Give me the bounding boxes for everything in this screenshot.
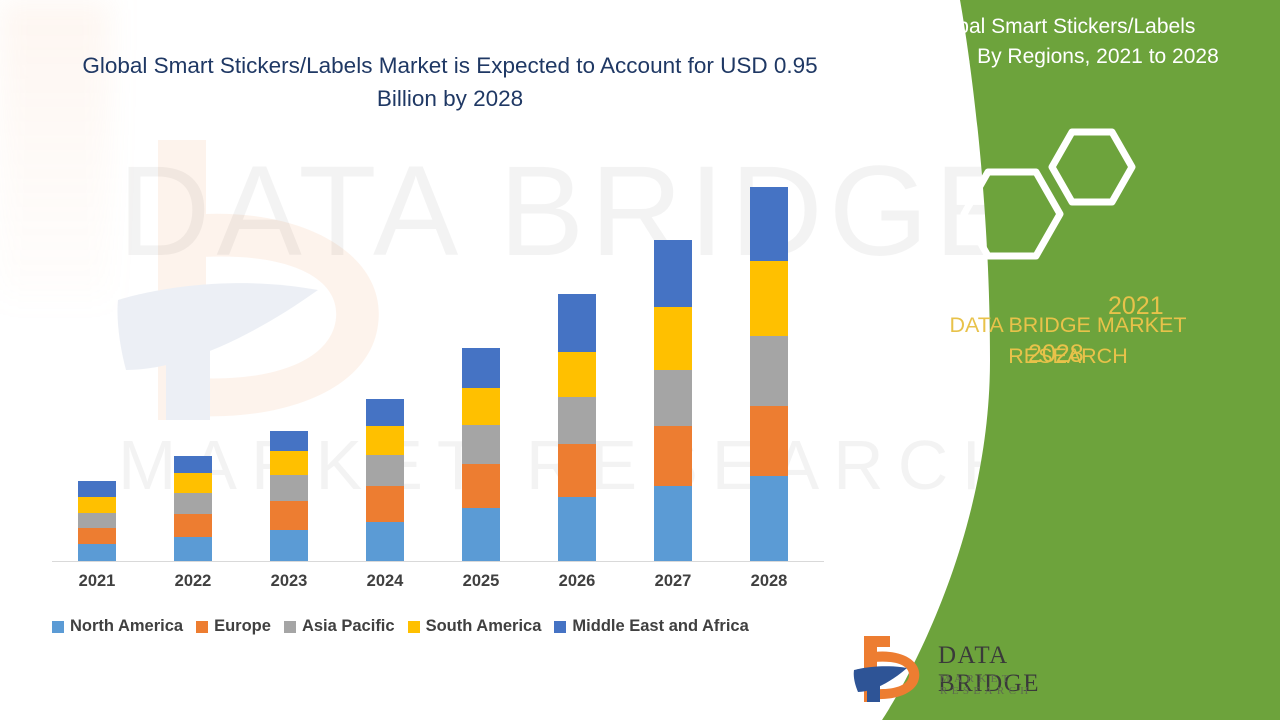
bar-segment-2024-asia-pacific[interactable] — [366, 455, 404, 486]
bar-segment-2021-south-america[interactable] — [78, 497, 116, 513]
bar-segment-2028-europe[interactable] — [750, 406, 788, 476]
right-panel-title: Global Smart Stickers/Labels Market, By … — [890, 12, 1230, 72]
legend-swatch-middle-east-and-africa — [554, 621, 566, 633]
bar-segment-2025-europe[interactable] — [462, 464, 500, 508]
legend-label-europe: Europe — [214, 617, 271, 636]
hexagon-2028-outline — [964, 172, 1060, 256]
x-axis-label-2026: 2026 — [537, 572, 617, 591]
bar-segment-2028-south-america[interactable] — [750, 261, 788, 336]
bar-segment-2028-north-america[interactable] — [750, 476, 788, 561]
bar-segment-2021-north-america[interactable] — [78, 544, 116, 561]
hexagon-outlines — [840, 120, 1280, 300]
bar-segment-2027-middle-east-and-africa[interactable] — [654, 240, 692, 307]
x-axis-label-2027: 2027 — [633, 572, 713, 591]
bar-segment-2026-north-america[interactable] — [558, 497, 596, 561]
legend-label-south-america: South America — [426, 617, 542, 636]
logo-tagline-text: MARKET RESEARCH — [940, 673, 1080, 697]
bar-segment-2026-south-america[interactable] — [558, 352, 596, 397]
bar-column-2021[interactable] — [78, 481, 116, 561]
chart-legend: North AmericaEuropeAsia PacificSouth Ame… — [52, 617, 762, 636]
bar-segment-2022-middle-east-and-africa[interactable] — [174, 456, 212, 473]
legend-label-middle-east-and-africa: Middle East and Africa — [572, 617, 748, 636]
legend-swatch-asia-pacific — [284, 621, 296, 633]
bar-segment-2027-north-america[interactable] — [654, 486, 692, 561]
hexagon-2021-outline — [1052, 132, 1132, 202]
bar-segment-2023-europe[interactable] — [270, 501, 308, 530]
legend-label-asia-pacific: Asia Pacific — [302, 617, 395, 636]
x-axis-label-2024: 2024 — [345, 572, 425, 591]
bar-segment-2027-south-america[interactable] — [654, 307, 692, 370]
bar-column-2028[interactable] — [750, 187, 788, 561]
company-name: DATA BRIDGE MARKET RESEARCH — [918, 310, 1218, 371]
x-axis-line — [52, 561, 824, 562]
legend-item-europe[interactable]: Europe — [196, 617, 271, 636]
bar-segment-2022-asia-pacific[interactable] — [174, 493, 212, 514]
bar-segment-2024-europe[interactable] — [366, 486, 404, 522]
legend-item-middle-east-and-africa[interactable]: Middle East and Africa — [554, 617, 748, 636]
hexagon-group: 2021 2028 — [840, 120, 1280, 300]
bar-segment-2021-middle-east-and-africa[interactable] — [78, 481, 116, 497]
bar-segment-2021-europe[interactable] — [78, 528, 116, 544]
x-axis-label-2028: 2028 — [729, 572, 809, 591]
bar-segment-2026-asia-pacific[interactable] — [558, 397, 596, 444]
legend-swatch-north-america — [52, 621, 64, 633]
legend-item-asia-pacific[interactable]: Asia Pacific — [284, 617, 395, 636]
bar-segment-2026-europe[interactable] — [558, 444, 596, 497]
bar-column-2026[interactable] — [558, 294, 596, 561]
bar-column-2027[interactable] — [654, 240, 692, 561]
bar-segment-2025-middle-east-and-africa[interactable] — [462, 348, 500, 388]
bar-column-2022[interactable] — [174, 456, 212, 561]
dbmr-logo: DATA BRIDGE MARKET RESEARCH — [850, 630, 1080, 712]
bar-segment-2025-south-america[interactable] — [462, 388, 500, 425]
bar-segment-2028-middle-east-and-africa[interactable] — [750, 187, 788, 261]
bar-segment-2024-south-america[interactable] — [366, 426, 404, 455]
legend-item-north-america[interactable]: North America — [52, 617, 183, 636]
bar-segment-2028-asia-pacific[interactable] — [750, 336, 788, 406]
x-axis-label-2022: 2022 — [153, 572, 233, 591]
bar-segment-2025-north-america[interactable] — [462, 508, 500, 561]
bar-segment-2025-asia-pacific[interactable] — [462, 425, 500, 464]
bar-segment-2026-middle-east-and-africa[interactable] — [558, 294, 596, 352]
bar-column-2024[interactable] — [366, 399, 404, 561]
bar-segment-2023-south-america[interactable] — [270, 451, 308, 475]
infographic-canvas: DATA BRIDGE MARKET RESEARCH Global Smart… — [0, 0, 1280, 720]
bar-segment-2022-north-america[interactable] — [174, 537, 212, 561]
bar-segment-2022-europe[interactable] — [174, 514, 212, 537]
bar-segment-2027-asia-pacific[interactable] — [654, 370, 692, 426]
x-axis-labels: 20212022202320242025202620272028 — [52, 572, 824, 600]
bar-segment-2023-middle-east-and-africa[interactable] — [270, 431, 308, 451]
bar-segment-2024-middle-east-and-africa[interactable] — [366, 399, 404, 426]
bar-column-2025[interactable] — [462, 348, 500, 561]
bar-segment-2021-asia-pacific[interactable] — [78, 513, 116, 528]
bar-segment-2023-asia-pacific[interactable] — [270, 475, 308, 501]
page-title: Global Smart Stickers/Labels Market is E… — [70, 50, 830, 115]
bar-segment-2024-north-america[interactable] — [366, 522, 404, 561]
x-axis-label-2025: 2025 — [441, 572, 521, 591]
legend-item-south-america[interactable]: South America — [408, 617, 542, 636]
right-green-panel: Global Smart Stickers/Labels Market, By … — [840, 0, 1280, 720]
legend-swatch-south-america — [408, 621, 420, 633]
dbmr-b-logo-icon — [850, 630, 930, 710]
legend-label-north-america: North America — [70, 617, 183, 636]
bar-segment-2023-north-america[interactable] — [270, 530, 308, 561]
bar-column-2023[interactable] — [270, 431, 308, 561]
bar-segment-2027-europe[interactable] — [654, 426, 692, 486]
legend-swatch-europe — [196, 621, 208, 633]
stacked-bar-chart — [52, 150, 824, 562]
bar-segment-2022-south-america[interactable] — [174, 473, 212, 493]
x-axis-label-2021: 2021 — [57, 572, 137, 591]
x-axis-label-2023: 2023 — [249, 572, 329, 591]
